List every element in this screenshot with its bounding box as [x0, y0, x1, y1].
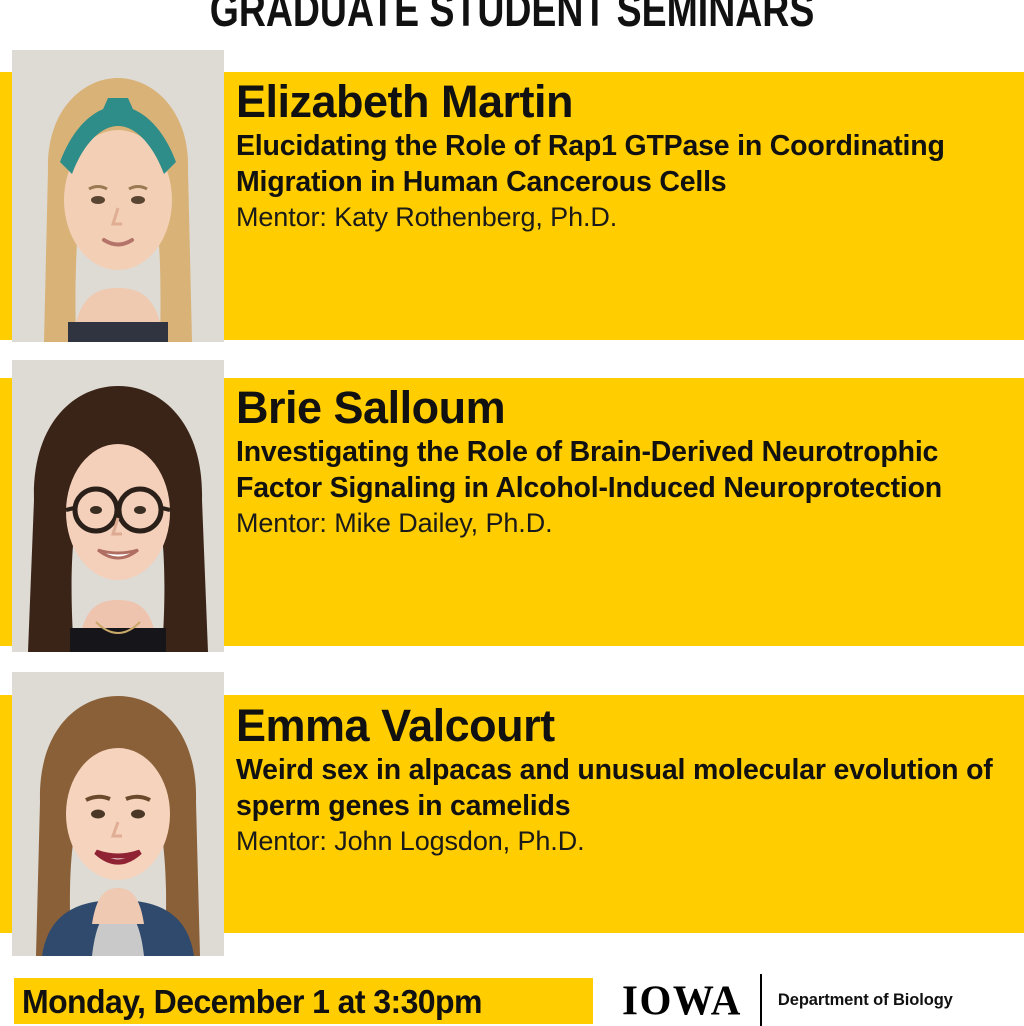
seminar-card: Brie Salloum Investigating the Role of B…: [0, 360, 1024, 652]
page-title: GRADUATE STUDENT SEMINARS: [113, 0, 912, 37]
poster-footer: Monday, December 1 at 3:30pm IOWA Depart…: [0, 960, 1024, 1024]
department-label: Department of Biology: [778, 990, 953, 1010]
speaker-name: Elizabeth Martin: [236, 76, 1024, 128]
headshot-brie-salloum-icon: [12, 360, 224, 652]
headshot-elizabeth-martin-icon: [12, 50, 224, 342]
iowa-wordmark: IOWA: [622, 977, 742, 1023]
university-logo: IOWA Department of Biology: [622, 976, 953, 1024]
seminar-text-block: Brie Salloum Investigating the Role of B…: [236, 382, 1024, 540]
logo-divider: [760, 974, 762, 1026]
avatar: [12, 360, 224, 652]
mentor-label: Mentor: Katy Rothenberg, Ph.D.: [236, 200, 1024, 234]
seminar-text-block: Elizabeth Martin Elucidating the Role of…: [236, 76, 1024, 234]
mentor-label: Mentor: Mike Dailey, Ph.D.: [236, 506, 1024, 540]
talk-title: Investigating the Role of Brain-Derived …: [236, 434, 1024, 506]
talk-title: Elucidating the Role of Rap1 GTPase in C…: [236, 128, 1024, 200]
seminar-card: Elizabeth Martin Elucidating the Role of…: [0, 50, 1024, 342]
mentor-label: Mentor: John Logsdon, Ph.D.: [236, 824, 1024, 858]
seminar-text-block: Emma Valcourt Weird sex in alpacas and u…: [236, 700, 1024, 858]
avatar: [12, 50, 224, 342]
speaker-name: Brie Salloum: [236, 382, 1024, 434]
event-date: Monday, December 1 at 3:30pm: [22, 980, 585, 1024]
poster-title-container: GRADUATE STUDENT SEMINARS: [0, 0, 1024, 38]
speaker-name: Emma Valcourt: [236, 700, 1024, 752]
talk-title: Weird sex in alpacas and unusual molecul…: [236, 752, 1024, 824]
headshot-emma-valcourt-icon: [12, 672, 224, 956]
avatar: [12, 672, 224, 956]
seminar-card: Emma Valcourt Weird sex in alpacas and u…: [0, 672, 1024, 956]
